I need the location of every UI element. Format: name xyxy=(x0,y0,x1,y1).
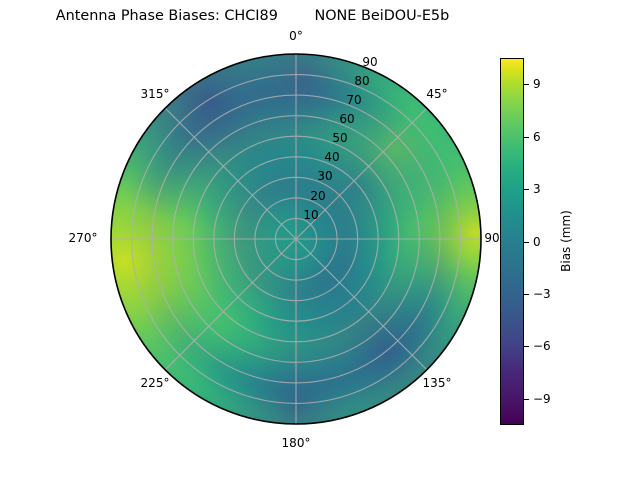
colorbar-ticklabel-9: 9 xyxy=(533,78,541,90)
colorbar-ticklabel-neg6: −6 xyxy=(533,340,551,352)
radial-tick-40: 40 xyxy=(324,151,339,163)
colorbar-gradient xyxy=(500,58,524,425)
colorbar-tick-6 xyxy=(524,137,529,138)
colorbar-tick-9 xyxy=(524,84,529,85)
angular-tick-180: 180° xyxy=(282,437,311,449)
figure-canvas: Antenna Phase Biases: CHCI89 NONE BeiDOU… xyxy=(0,0,640,480)
colorbar-ticklabel-neg9: −9 xyxy=(533,393,551,405)
angular-tick-0: 0° xyxy=(289,30,303,42)
radial-tick-90: 90 xyxy=(362,56,377,68)
radial-tick-10: 10 xyxy=(303,209,318,221)
radial-tick-80: 80 xyxy=(354,75,369,87)
colorbar-axis-label: Bias (mm) xyxy=(559,210,573,272)
colorbar-tick-neg3 xyxy=(524,294,529,295)
angular-tick-315: 315° xyxy=(141,88,170,100)
angular-gridlines xyxy=(111,54,481,424)
page-title: Antenna Phase Biases: CHCI89 NONE BeiDOU… xyxy=(0,8,505,25)
colorbar-tick-0 xyxy=(524,242,529,243)
colorbar-tick-3 xyxy=(524,189,529,190)
angular-tick-225: 225° xyxy=(141,377,170,389)
polar-plot-axes[interactable] xyxy=(110,53,482,425)
polar-contour-svg xyxy=(110,53,482,425)
colorbar-ticklabel-3: 3 xyxy=(533,183,541,195)
colorbar-tick-neg9 xyxy=(524,399,529,400)
angular-tick-270: 270° xyxy=(69,232,98,244)
angular-tick-135: 135° xyxy=(423,377,452,389)
radial-tick-50: 50 xyxy=(332,132,347,144)
colorbar-ticklabel-0: 0 xyxy=(533,236,541,248)
radial-tick-70: 70 xyxy=(346,94,361,106)
colorbar-ticklabel-6: 6 xyxy=(533,131,541,143)
radial-tick-20: 20 xyxy=(310,190,325,202)
angular-tick-90: 90 xyxy=(484,232,499,244)
colorbar[interactable]: 9 6 3 0 −3 −6 −9 xyxy=(500,58,524,425)
radial-tick-60: 60 xyxy=(339,113,354,125)
angular-tick-45: 45° xyxy=(426,88,447,100)
colorbar-ticklabel-neg3: −3 xyxy=(533,288,551,300)
colorbar-tick-neg6 xyxy=(524,346,529,347)
radial-tick-30: 30 xyxy=(317,170,332,182)
